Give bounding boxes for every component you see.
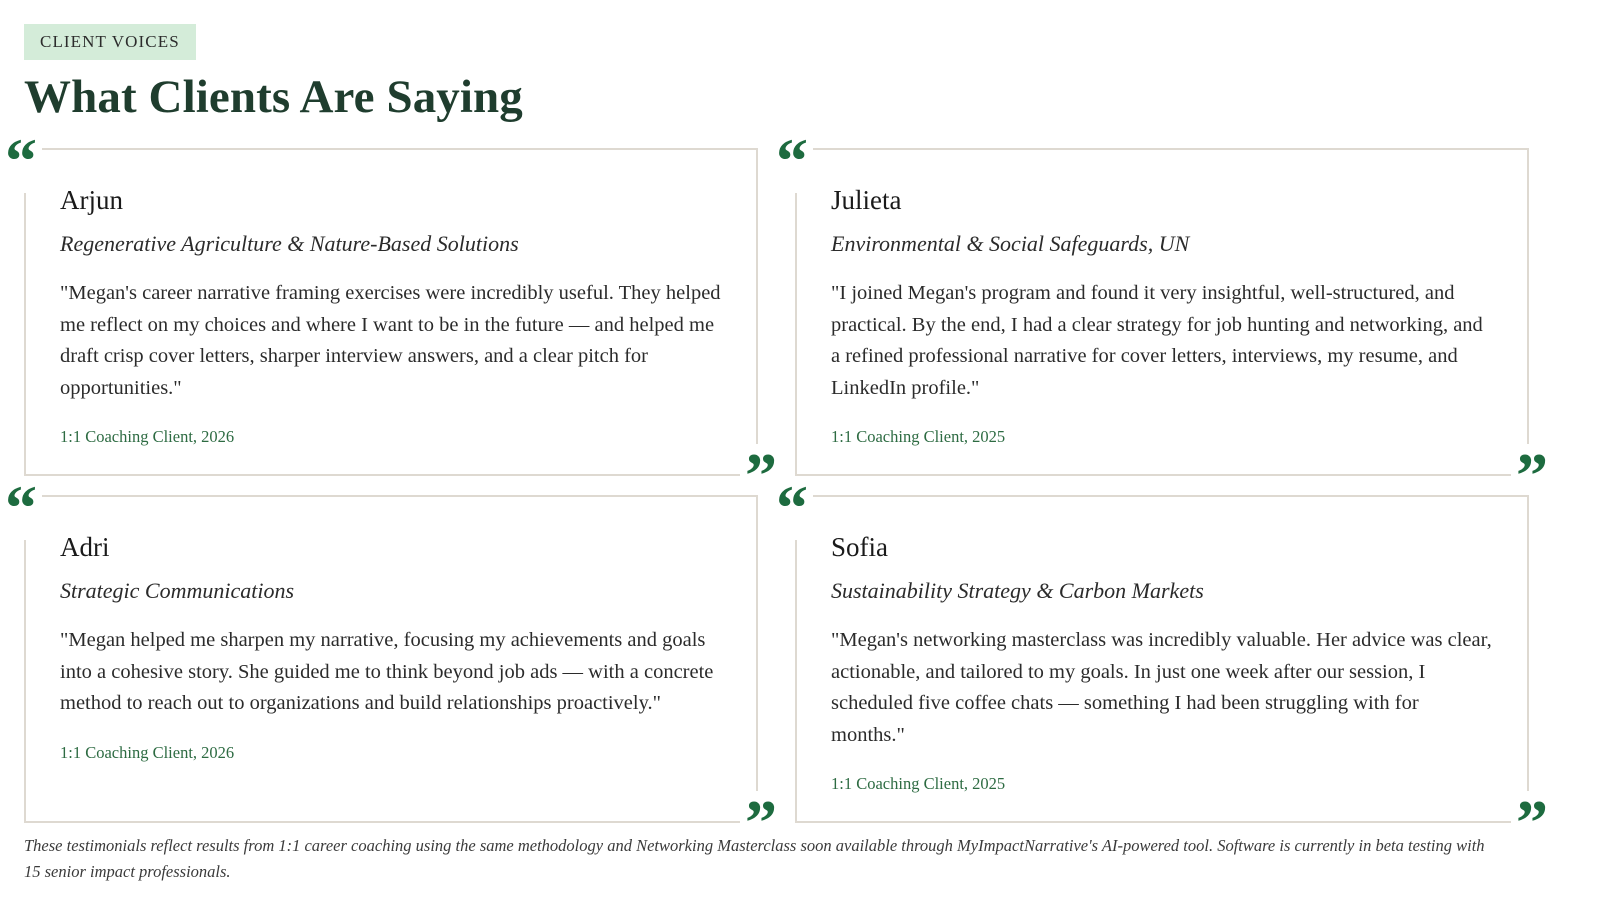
testimonials-page: CLIENT VOICES What Clients Are Saying “ … [0, 0, 1600, 923]
testimonial-card: “ ” Arjun Regenerative Agriculture & Nat… [24, 148, 758, 476]
testimonial-card: “ ” Sofia Sustainability Strategy & Carb… [795, 495, 1529, 823]
client-quote: "Megan's networking masterclass was incr… [831, 625, 1497, 751]
page-title: What Clients Are Saying [24, 66, 523, 128]
quote-open-icon: “ [771, 129, 813, 193]
client-attribution: 1:1 Coaching Client, 2025 [831, 773, 1497, 795]
client-role: Strategic Communications [60, 577, 726, 605]
client-name: Sofia [831, 531, 1497, 563]
quote-open-icon: “ [0, 476, 42, 540]
client-attribution: 1:1 Coaching Client, 2026 [60, 742, 726, 764]
client-name: Julieta [831, 184, 1497, 216]
section-eyebrow-badge: CLIENT VOICES [24, 24, 196, 60]
client-quote: "I joined Megan's program and found it v… [831, 278, 1497, 404]
client-name: Adri [60, 531, 726, 563]
quote-close-icon: ” [1511, 791, 1553, 855]
client-role: Environmental & Social Safeguards, UN [831, 230, 1497, 258]
client-quote: "Megan's career narrative framing exerci… [60, 278, 726, 404]
client-name: Arjun [60, 184, 726, 216]
eyebrow-wrapper: CLIENT VOICES [24, 24, 196, 60]
client-role: Sustainability Strategy & Carbon Markets [831, 577, 1497, 605]
footnote-disclaimer: These testimonials reflect results from … [24, 833, 1494, 885]
client-attribution: 1:1 Coaching Client, 2026 [60, 426, 726, 448]
client-quote: "Megan helped me sharpen my narrative, f… [60, 625, 726, 720]
client-role: Regenerative Agriculture & Nature-Based … [60, 230, 726, 258]
client-attribution: 1:1 Coaching Client, 2025 [831, 426, 1497, 448]
testimonial-card: “ ” Adri Strategic Communications "Megan… [24, 495, 758, 823]
testimonial-grid: “ ” Arjun Regenerative Agriculture & Nat… [24, 148, 1529, 823]
quote-open-icon: “ [0, 129, 42, 193]
testimonial-card: “ ” Julieta Environmental & Social Safeg… [795, 148, 1529, 476]
quote-open-icon: “ [771, 476, 813, 540]
